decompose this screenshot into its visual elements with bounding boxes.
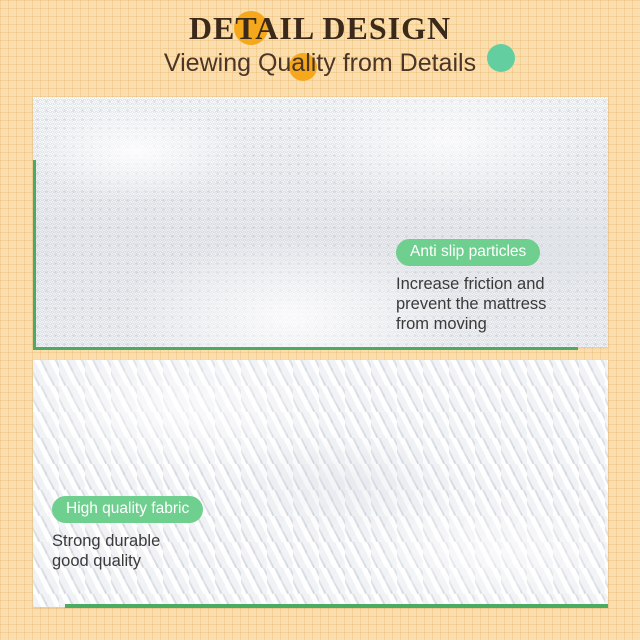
- detail-design-banner: DETAIL DESIGN Viewing Quality from Detai…: [0, 0, 640, 640]
- header: DETAIL DESIGN Viewing Quality from Detai…: [0, 0, 640, 92]
- callout-high-quality-fabric: High quality fabric Strong durable good …: [52, 496, 262, 571]
- callout-anti-slip: Anti slip particles Increase friction an…: [396, 239, 596, 334]
- accent-bar-bottom: [33, 347, 578, 350]
- callout-body-high-quality-fabric: Strong durable good quality: [52, 531, 262, 571]
- callout-body-anti-slip: Increase friction and prevent the mattre…: [396, 274, 596, 334]
- accent-bar-bottom: [65, 604, 608, 608]
- status-badge-anti-slip: Anti slip particles: [396, 239, 540, 266]
- status-badge-high-quality-fabric: High quality fabric: [52, 496, 203, 523]
- accent-bar-left: [33, 160, 36, 350]
- page-title: DETAIL DESIGN: [0, 10, 640, 46]
- page-subtitle: Viewing Quality from Details: [0, 48, 640, 78]
